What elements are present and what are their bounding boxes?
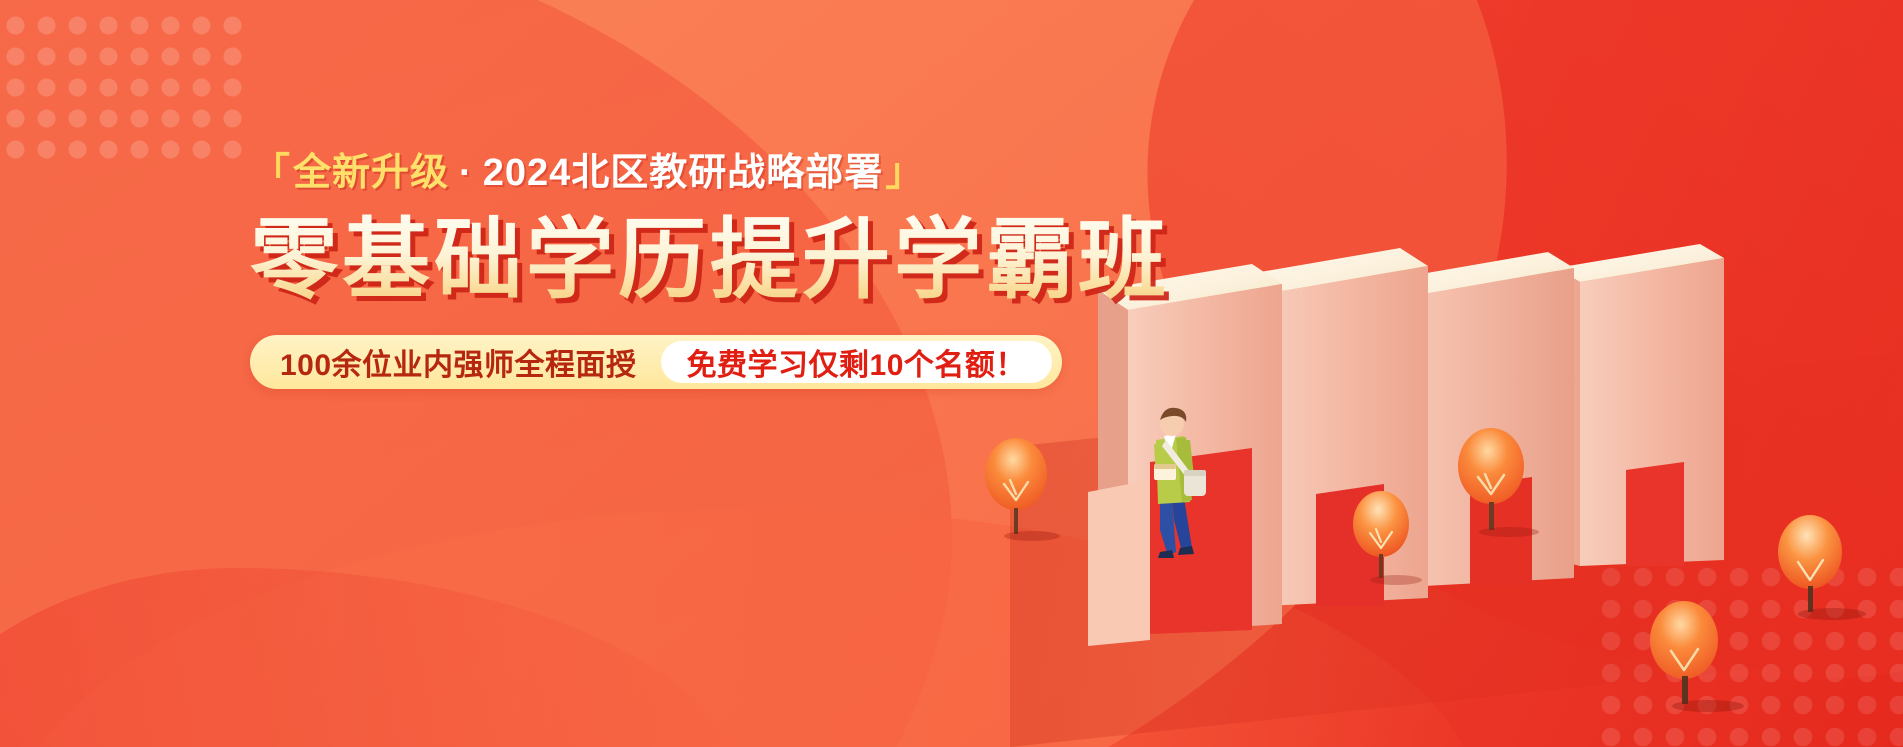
subtitle-highlight: 全新升级 bbox=[293, 152, 449, 194]
banner-text-block: 「全新升级·2024北区教研战略部署」 零基础学历提升学霸班 100余位业内强师… bbox=[250, 150, 1170, 389]
bracket-close-glyph: 」 bbox=[885, 152, 924, 194]
banner-subtitle: 「全新升级·2024北区教研战略部署」 bbox=[250, 150, 1170, 198]
banner-headline: 零基础学历提升学霸班 bbox=[250, 212, 1170, 307]
promo-banner: 「全新升级·2024北区教研战略部署」 零基础学历提升学霸班 100余位业内强师… bbox=[0, 0, 1903, 747]
promo-pill[interactable]: 100余位业内强师全程面授 免费学习仅剩10个名额！ bbox=[250, 335, 1062, 389]
subtitle-separator: · bbox=[459, 152, 473, 194]
promo-pill-inner-badge: 免费学习仅剩10个名额！ bbox=[661, 341, 1052, 383]
bracket-open-glyph: 「 bbox=[252, 152, 291, 194]
subtitle-rest: 2024北区教研战略部署 bbox=[483, 152, 884, 194]
promo-pill-left-label: 100余位业内强师全程面授 bbox=[280, 340, 661, 384]
dot-grid-top-left-decoration bbox=[0, 10, 250, 165]
